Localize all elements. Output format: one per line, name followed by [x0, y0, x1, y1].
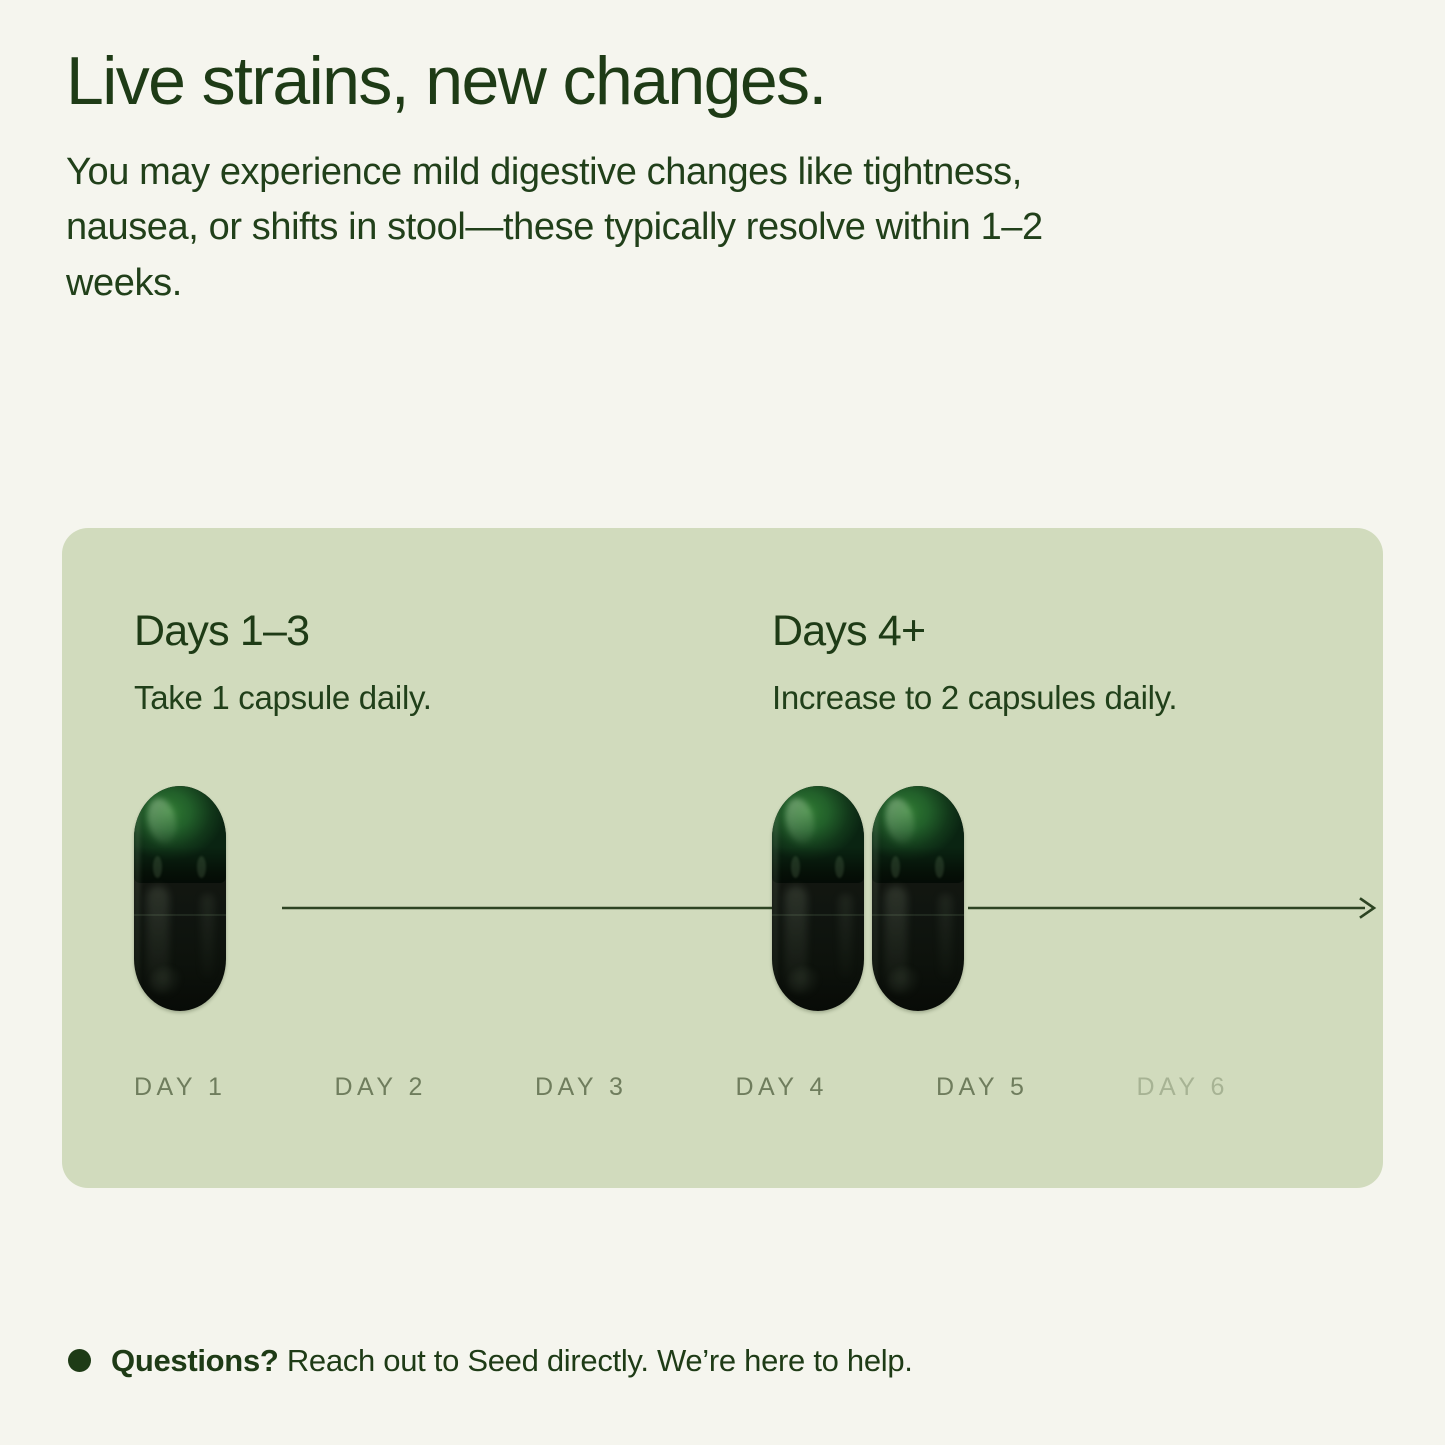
header: Live strains, new changes. You may exper… — [66, 46, 1316, 311]
capsule-bottom-gloss — [788, 967, 822, 997]
day-label-1: DAY 1 — [134, 1073, 335, 1102]
capsule-rim-highlight — [872, 792, 878, 1002]
day-label-6: DAY 6 — [1137, 1073, 1338, 1102]
capsule-rim-highlight — [134, 792, 140, 1002]
capsule-body-sheen-right — [939, 894, 952, 980]
capsule-dimple — [791, 856, 800, 878]
bullet-dot-icon — [68, 1349, 91, 1372]
phase-1-subtitle: Take 1 capsule daily. — [134, 678, 432, 718]
day-label-3: DAY 3 — [535, 1073, 736, 1102]
phase-2-title: Days 4+ — [772, 610, 925, 653]
capsule-cap-edge — [872, 847, 964, 883]
phase-2-timeline-arrow — [968, 896, 1380, 920]
capsule-cap-edge — [772, 847, 864, 883]
capsule-cap — [772, 786, 864, 883]
capsule-dimple — [891, 856, 900, 878]
footer-questions-label: Questions? — [111, 1343, 279, 1378]
capsule-cap — [134, 786, 226, 883]
capsule-bottom-gloss — [150, 967, 184, 997]
capsule-dimple — [197, 856, 206, 878]
phase-2-capsules — [772, 786, 964, 1011]
dosage-schedule-card: Days 1–3 Take 1 capsule daily. — [62, 528, 1383, 1188]
day-label-2: DAY 2 — [335, 1073, 536, 1102]
footer-text: Questions? Reach out to Seed directly. W… — [111, 1345, 913, 1376]
capsule-icon — [134, 786, 226, 1011]
page-subcopy: You may experience mild digestive change… — [66, 145, 1156, 311]
phase-1-timeline-arrow — [282, 896, 809, 920]
capsule-body-sheen-right — [201, 894, 214, 980]
capsule-cap — [872, 786, 964, 883]
capsule-body-sheen-right — [839, 894, 852, 980]
capsule-rim-highlight — [772, 792, 778, 1002]
capsule-cap-edge — [134, 847, 226, 883]
page-root: Live strains, new changes. You may exper… — [0, 0, 1445, 1445]
day-label-4: DAY 4 — [736, 1073, 937, 1102]
capsule-dimple — [935, 856, 944, 878]
footer-help-text: Reach out to Seed directly. We’re here t… — [279, 1343, 913, 1378]
capsule-dimple — [835, 856, 844, 878]
capsule-cap-gloss — [782, 796, 819, 847]
phase-1-capsules — [134, 786, 226, 1011]
capsule-dimple — [153, 856, 162, 878]
page-title: Live strains, new changes. — [66, 46, 1316, 117]
capsule-bottom-gloss — [888, 967, 922, 997]
capsule-cap-gloss — [882, 796, 919, 847]
day-axis: DAY 1 DAY 2 DAY 3 DAY 4 DAY 5 DAY 6 — [134, 1073, 1337, 1102]
phase-2-subtitle: Increase to 2 capsules daily. — [772, 678, 1177, 718]
capsule-icon — [772, 786, 864, 1011]
day-label-5: DAY 5 — [936, 1073, 1137, 1102]
capsule-cap-gloss — [144, 796, 181, 847]
phase-1-title: Days 1–3 — [134, 610, 309, 653]
capsule-icon — [872, 786, 964, 1011]
footer-help-note: Questions? Reach out to Seed directly. W… — [68, 1345, 913, 1376]
